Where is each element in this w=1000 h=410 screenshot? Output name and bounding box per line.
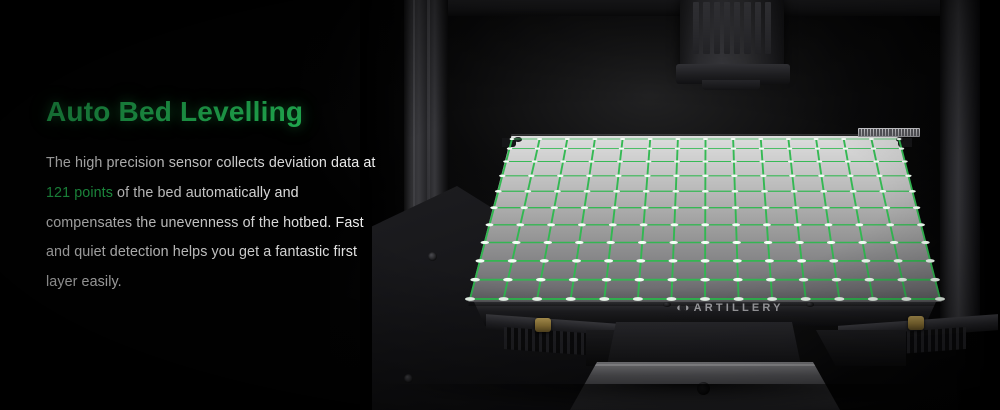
- bed-screw: [806, 302, 814, 307]
- floor-shadow: [380, 384, 1000, 410]
- bed-screw: [896, 137, 904, 142]
- bed-cable-connector: [858, 128, 920, 137]
- description-part-1: The high precision sensor collects devia…: [46, 155, 375, 171]
- probe-point-count-highlight: 121 points: [46, 185, 113, 201]
- promo-banner: ◐◑ARTILLERY Auto Bed Levelling The high …: [0, 0, 1000, 410]
- brand-name: ARTILLERY: [694, 302, 784, 314]
- page-title: Auto Bed Levelling: [46, 96, 386, 127]
- leveling-knob-right[interactable]: [908, 316, 924, 330]
- description-text: The high precision sensor collects devia…: [46, 149, 386, 297]
- bed-screw: [514, 137, 522, 142]
- leveling-knob-left[interactable]: [535, 318, 551, 332]
- heated-bed-surface: [466, 136, 944, 302]
- brand-logo: ◐◑ARTILLERY: [655, 300, 805, 316]
- brand-mark-icon: ◐◑: [676, 302, 689, 314]
- copy-block: Auto Bed Levelling The high precision se…: [46, 96, 386, 297]
